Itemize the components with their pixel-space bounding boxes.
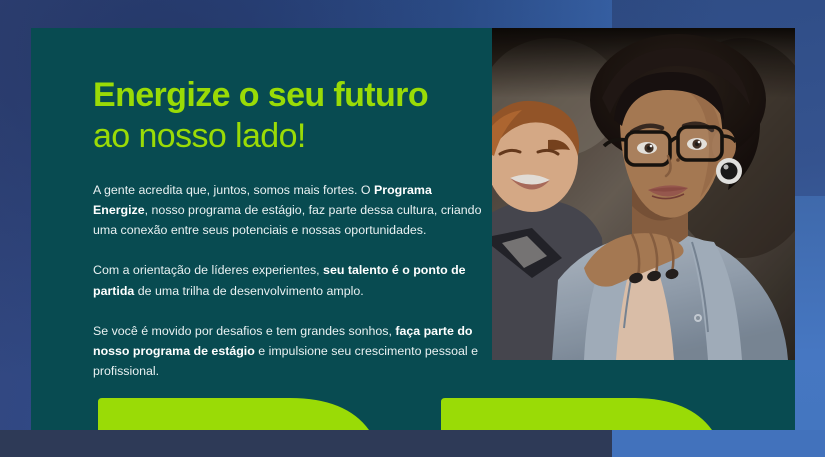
card-text-column: Energize o seu futuro ao nosso lado! A g… <box>93 76 485 381</box>
paragraph-2: Com a orientação de líderes experientes,… <box>93 260 485 300</box>
hero-photo <box>492 28 795 360</box>
headline-line-1: Energize o seu futuro <box>93 76 428 114</box>
lime-swoosh-left <box>94 394 369 430</box>
background-bottom-band-right <box>612 430 825 457</box>
promo-card: Energize o seu futuro ao nosso lado! A g… <box>31 28 795 430</box>
banner-stage: Energize o seu futuro ao nosso lado! A g… <box>0 0 825 457</box>
lime-swoosh-right <box>437 394 712 430</box>
paragraph-1: A gente acredita que, juntos, somos mais… <box>93 180 485 240</box>
paragraph-3: Se você é movido por desafios e tem gran… <box>93 321 485 381</box>
page-title: Energize o seu futuro ao nosso lado! <box>93 76 485 156</box>
body-copy: A gente acredita que, juntos, somos mais… <box>93 180 485 381</box>
headline-line-2: ao nosso lado! <box>93 117 485 156</box>
